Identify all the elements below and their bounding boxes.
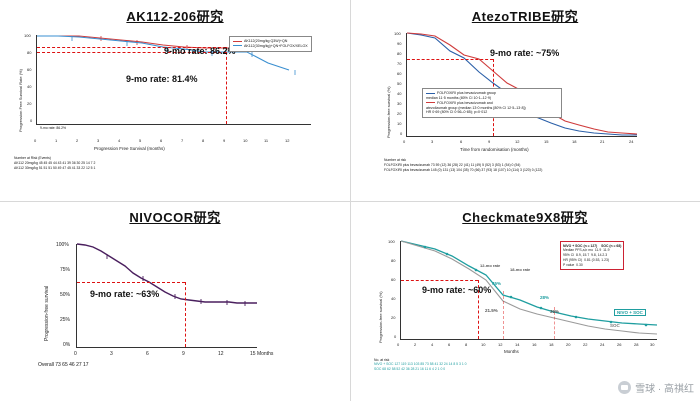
- y-tick: 40: [27, 84, 31, 89]
- chart-atezotribe: Progression-free survival (%) 100 90 80 …: [370, 26, 690, 186]
- y-tick: 100%: [56, 242, 69, 248]
- x-tick: 3: [97, 138, 99, 143]
- panel-ak112-206: AK112-206研究 Progression Free Survival Ra…: [0, 0, 350, 201]
- annotation-39pct: 39%: [550, 309, 559, 314]
- x-tick: 9: [182, 351, 185, 357]
- y-tick: 100: [394, 31, 401, 36]
- ref-line-60: [401, 280, 478, 281]
- y-tick: 0: [400, 131, 402, 136]
- x-tick: 8: [465, 342, 467, 347]
- x-tick: 14: [515, 342, 519, 347]
- legend-atezotribe: FOLFOXIRI plus bevacizumab group median …: [422, 88, 562, 118]
- x-tick: 22: [583, 342, 587, 347]
- ref-line-9mo: [226, 47, 227, 124]
- x-tick: 0: [397, 342, 399, 347]
- risk-table-checkmate: No. at risk NIVO + SOC 127 119 113 103 8…: [374, 358, 467, 372]
- legend-swatch-blue-icon: [233, 45, 242, 46]
- y-tick: 50%: [60, 292, 70, 298]
- y-tick: 100: [388, 239, 395, 244]
- y-tick: 70: [397, 61, 401, 66]
- x-tick: 9: [488, 139, 490, 144]
- x-tick: 6: [448, 342, 450, 347]
- x-tick: 2: [414, 342, 416, 347]
- annotation-9mo-63: 9-mo rate: ~63%: [90, 289, 159, 299]
- risk-row: FOLFOXIRI plus bevacizumab 73 59 (12) 36…: [384, 163, 542, 168]
- x-tick: 15: [544, 139, 548, 144]
- x-tick: 26: [617, 342, 621, 347]
- x-tick: 10: [481, 342, 485, 347]
- y-tick: 0%: [63, 342, 70, 348]
- legend-note: HR 0·69 (80% CI 0·56–0·85); p=0·012: [426, 110, 558, 115]
- legend-swatch-blue-icon: [426, 93, 435, 94]
- annotation-9mo-814: 9-mo rate: 81.4%: [126, 74, 198, 84]
- x-tick: 15 Months: [250, 351, 273, 357]
- ref-line-12mo: [503, 291, 504, 339]
- legend-ak112: AK112(20mg/kg Q3W)+QN AK112(30mg/kg)+QN+…: [229, 36, 312, 52]
- x-tick: 4: [118, 138, 120, 143]
- inline-stats: 9-mo rate: 86.2%: [40, 126, 66, 131]
- y-tick: 80: [391, 258, 395, 263]
- panel-atezotribe: AtezoTRIBE研究 Progression-free survival (…: [350, 0, 700, 201]
- y-tick: 25%: [60, 317, 70, 323]
- divider-horizontal: [0, 201, 700, 202]
- y-tick: 75%: [60, 267, 70, 273]
- x-tick: 24: [600, 342, 604, 347]
- legend-swatch-red-icon: [233, 41, 242, 42]
- y-axis-label: Progression Free Survival Rate (%): [18, 32, 23, 132]
- risk-row: Overall 73 65 46 27 17: [38, 362, 89, 369]
- x-tick: 18: [549, 342, 553, 347]
- x-tick: 3: [110, 351, 113, 357]
- stats-table-checkmate: NIVO + SOC (n = 127) SOC (n = 68) Median…: [560, 241, 624, 271]
- risk-table-nivocor: Overall 73 65 46 27 17: [38, 362, 89, 369]
- x-tick: 7: [181, 138, 183, 143]
- x-tick: 12: [285, 138, 289, 143]
- x-tick: 16: [532, 342, 536, 347]
- y-tick: 60: [27, 67, 31, 72]
- y-tick: 20: [27, 101, 31, 106]
- y-tick: 20: [391, 315, 395, 320]
- y-tick: 60: [397, 71, 401, 76]
- panel-checkmate9x8: Checkmate9X8研究 Progression-free survival…: [350, 201, 700, 401]
- annotation-18mo-label: 18-mo rate: [510, 267, 530, 272]
- chart-ak112-206: Progression Free Survival Rate (%) 100 8…: [14, 28, 334, 178]
- x-tick: 6: [160, 138, 162, 143]
- risk-table-atezotribe: Number at risk FOLFOXIRI plus bevacizuma…: [384, 158, 542, 172]
- x-tick: 11: [264, 138, 268, 143]
- x-tick: 5: [139, 138, 141, 143]
- ref-line-75: [407, 59, 493, 60]
- annotation-9mo-862: 9-mo rate: 86.2%: [164, 46, 236, 56]
- risk-row: FOLFOXIRI plus bevacizumab 145 (0) 131 (…: [384, 168, 542, 173]
- x-tick: 3: [431, 139, 433, 144]
- x-tick: 0: [34, 138, 36, 143]
- x-axis-label: Progression Free Survival (months): [94, 146, 165, 151]
- x-tick: 8: [202, 138, 204, 143]
- annotation-215pct: 21.5%: [485, 308, 498, 313]
- panel-grid: AK112-206研究 Progression Free Survival Ra…: [0, 0, 700, 401]
- risk-row: AK112 30mg/kg 51 51 51 50 49 47 45 41 33…: [14, 166, 95, 171]
- x-axis-label: Time from randomisation (months): [460, 147, 529, 152]
- x-tick: 6: [146, 351, 149, 357]
- watermark-text: 雪球 · 高祺红: [635, 380, 694, 395]
- panel-title-atezotribe: AtezoTRIBE研究: [350, 0, 700, 25]
- annotation-9mo-60: 9-mo rate: ~60%: [422, 285, 491, 295]
- chart-checkmate9x8: Progression-free survival (%) 100 80 60 …: [364, 227, 694, 392]
- y-tick: 80: [27, 50, 31, 55]
- annotation-28pct: 28%: [540, 295, 549, 300]
- x-tick: 0: [403, 139, 405, 144]
- panel-title-checkmate9x8: Checkmate9X8研究: [350, 201, 700, 226]
- annotation-12mo-label: 12-mo rate: [480, 263, 500, 268]
- x-tick: 20: [566, 342, 570, 347]
- x-tick: 21: [600, 139, 604, 144]
- y-tick: 40: [397, 91, 401, 96]
- y-axis-label: Progression-free survival (%): [386, 28, 391, 138]
- series-label-soc: SOC: [610, 323, 620, 328]
- x-axis-label: Months: [504, 349, 519, 354]
- y-tick: 0: [394, 334, 396, 339]
- annotation-45pct: 45%: [492, 281, 501, 286]
- panel-nivocor: NIVOCOR研究 Progression-free survival 100%…: [0, 201, 350, 401]
- x-tick: 0: [74, 351, 77, 357]
- x-tick: 30: [650, 342, 654, 347]
- ref-line-63: [77, 282, 185, 283]
- y-tick: 20: [397, 111, 401, 116]
- panel-title-nivocor: NIVOCOR研究: [0, 201, 350, 226]
- risk-row: SOC 68 62 58 52 42 36 28 21 16 11 6 4 2 …: [374, 367, 467, 372]
- x-tick: 4: [431, 342, 433, 347]
- x-tick: 12: [218, 351, 224, 357]
- x-tick: 2: [76, 138, 78, 143]
- legend-swatch-red-icon: [426, 102, 435, 103]
- y-tick: 80: [397, 51, 401, 56]
- x-tick: 12: [515, 139, 519, 144]
- x-tick: 10: [243, 138, 247, 143]
- y-axis-label: Progression-free survival: [44, 231, 50, 341]
- panel-title-ak112-206: AK112-206研究: [0, 0, 350, 25]
- y-tick: 90: [397, 41, 401, 46]
- risk-row: AK112 20mg/kg 45 45 45 44 43 41 39 36 30…: [14, 161, 95, 166]
- x-tick: 1: [55, 138, 57, 143]
- y-tick: 100: [24, 33, 31, 38]
- x-tick: 6: [460, 139, 462, 144]
- x-tick: 9: [223, 138, 225, 143]
- legend-entry: AK112(30mg/kg)+QN+FOLFOX/XELOX: [233, 44, 308, 49]
- chart-nivocor: Progression-free survival 100% 75% 50% 2…: [30, 229, 330, 389]
- watermark: 雪球 · 高祺红: [618, 380, 694, 395]
- stats-row: P value 0.30: [563, 263, 621, 268]
- x-tick: 24: [629, 139, 633, 144]
- x-tick: 28: [634, 342, 638, 347]
- series-label-nivo-soc: NIVO + SOC: [614, 309, 646, 316]
- x-tick: 18: [572, 139, 576, 144]
- y-tick: 30: [397, 101, 401, 106]
- y-axis-label: Progression-free survival (%): [378, 223, 383, 343]
- y-tick: 40: [391, 296, 395, 301]
- y-tick: 10: [397, 121, 401, 126]
- x-tick: 12: [498, 342, 502, 347]
- y-tick: 50: [397, 81, 401, 86]
- y-tick: 0: [30, 118, 32, 123]
- y-tick: 60: [391, 277, 395, 282]
- watermark-logo-icon: [618, 381, 631, 394]
- annotation-9mo-75: 9-mo rate: ~75%: [490, 48, 559, 58]
- ref-line-9mo: [185, 282, 186, 347]
- risk-table-ak112: Number at Risk (Events) AK112 20mg/kg 45…: [14, 156, 95, 170]
